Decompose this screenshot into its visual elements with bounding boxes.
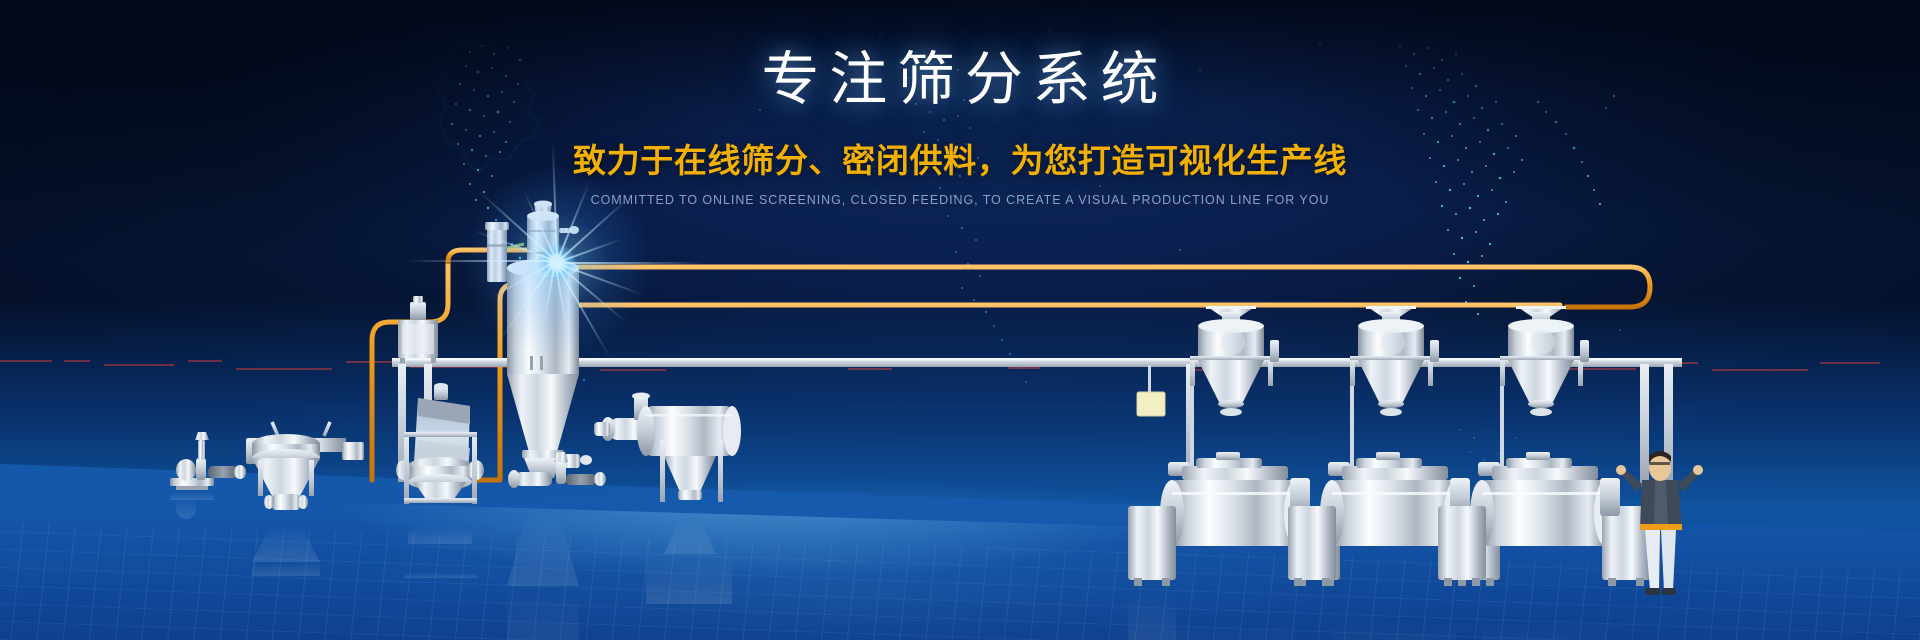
bag-dump-station xyxy=(246,422,364,576)
lens-flare xyxy=(556,262,558,264)
production-line-illustration xyxy=(0,0,1920,640)
horizontal-screener xyxy=(594,393,741,605)
control-cabinet xyxy=(398,296,438,363)
hero-banner: 专注筛分系统 致力于在线筛分、密闭供料，为您打造可视化生产线 COMMITTED… xyxy=(0,0,1920,640)
roots-blower xyxy=(170,432,246,519)
vibrating-sifter xyxy=(396,383,484,578)
display-panel xyxy=(1137,365,1165,416)
